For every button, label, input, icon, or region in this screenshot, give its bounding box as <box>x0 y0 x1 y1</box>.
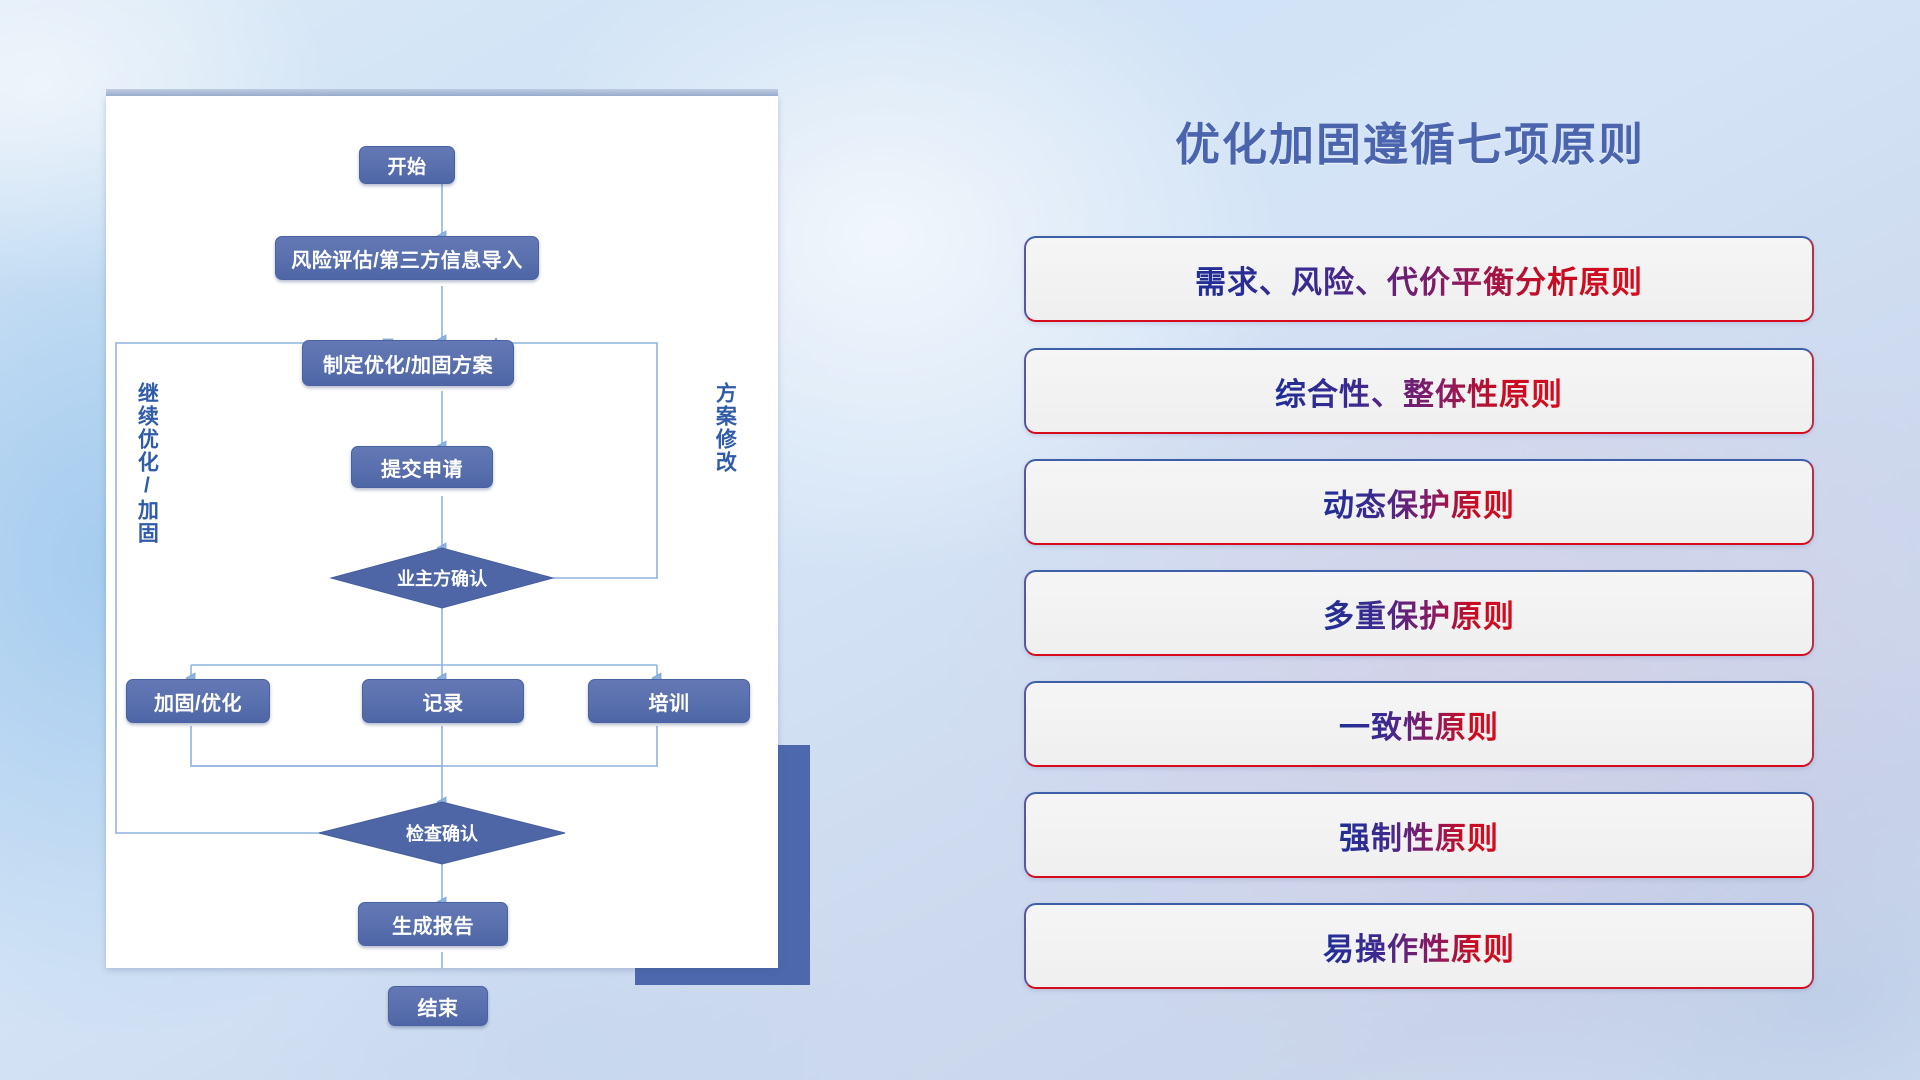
principle-item-5-label: 一致性原则 <box>1339 702 1499 747</box>
flowchart-region: 开始 风险评估/第三方信息导入 制定优化/加固方案 提交申请 业主方确认 加固/… <box>0 0 860 1080</box>
node-make-plan[interactable]: 制定优化/加固方案 <box>302 340 514 386</box>
node-generate-report-label: 生成报告 <box>392 910 474 939</box>
principle-item-6[interactable]: 强制性原则 <box>1024 792 1814 878</box>
node-submit-application-label: 提交申请 <box>381 453 463 482</box>
principle-item-7-label: 易操作性原则 <box>1323 924 1515 969</box>
node-start[interactable]: 开始 <box>359 146 455 184</box>
node-end-label: 结束 <box>418 992 459 1021</box>
check-confirm-diamond <box>319 802 565 864</box>
node-reinforce-optimize[interactable]: 加固/优化 <box>126 679 270 723</box>
panel-title: 优化加固遵循七项原则 <box>1000 108 1820 173</box>
principle-item-3-label: 动态保护原则 <box>1323 480 1515 525</box>
node-start-label: 开始 <box>387 152 426 179</box>
flowchart-card: 开始 风险评估/第三方信息导入 制定优化/加固方案 提交申请 业主方确认 加固/… <box>106 96 778 968</box>
principle-item-1[interactable]: 需求、风险、代价平衡分析原则 <box>1024 236 1814 322</box>
node-training-label: 培训 <box>649 687 690 716</box>
owner-confirm-diamond <box>331 548 553 608</box>
node-make-plan-label: 制定优化/加固方案 <box>323 349 493 378</box>
node-reinforce-optimize-label: 加固/优化 <box>154 687 242 716</box>
principle-item-6-label: 强制性原则 <box>1339 813 1499 858</box>
principle-item-4-label: 多重保护原则 <box>1323 591 1515 636</box>
principle-item-3[interactable]: 动态保护原则 <box>1024 459 1814 545</box>
principles-panel: 优化加固遵循七项原则 需求、风险、代价平衡分析原则 综合性、整体性原则 动态保护… <box>1000 0 1920 1080</box>
node-end[interactable]: 结束 <box>388 986 488 1026</box>
principle-item-4[interactable]: 多重保护原则 <box>1024 570 1814 656</box>
node-training[interactable]: 培训 <box>588 679 750 723</box>
edge-label-continue-optimize: 继续优化/加固 <box>136 382 157 545</box>
principle-item-5[interactable]: 一致性原则 <box>1024 681 1814 767</box>
principle-item-7[interactable]: 易操作性原则 <box>1024 903 1814 989</box>
node-generate-report[interactable]: 生成报告 <box>358 902 508 946</box>
principle-item-1-label: 需求、风险、代价平衡分析原则 <box>1195 257 1643 302</box>
node-record[interactable]: 记录 <box>362 679 524 723</box>
edge-label-plan-revision: 方案修改 <box>714 382 735 474</box>
node-submit-application[interactable]: 提交申请 <box>351 446 493 488</box>
principle-item-2-label: 综合性、整体性原则 <box>1275 369 1563 414</box>
principle-item-2[interactable]: 综合性、整体性原则 <box>1024 348 1814 434</box>
node-risk-assessment-label: 风险评估/第三方信息导入 <box>291 244 523 273</box>
node-risk-assessment[interactable]: 风险评估/第三方信息导入 <box>275 236 539 280</box>
node-record-label: 记录 <box>423 687 464 716</box>
flowchart-connectors <box>106 96 778 968</box>
